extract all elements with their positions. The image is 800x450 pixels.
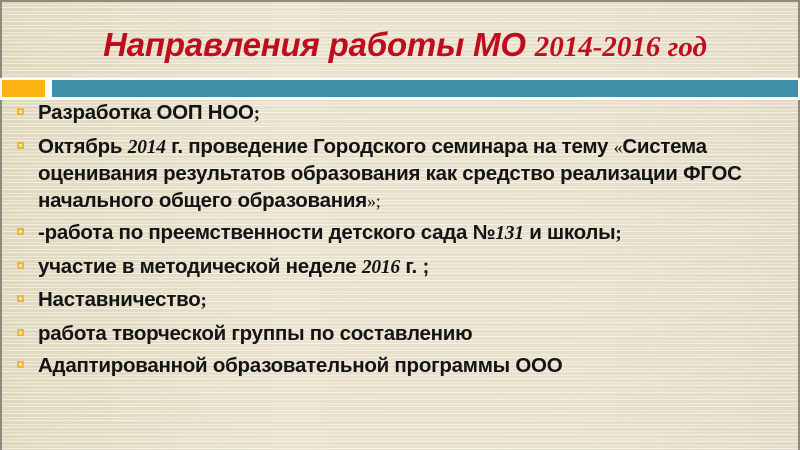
- title-main-text: Направления работы МО: [103, 26, 526, 63]
- list-item: работа творческой группы по составлению: [12, 321, 782, 348]
- list-item-text: ;: [615, 223, 621, 244]
- list-item: Наставничество;: [12, 287, 782, 315]
- list-item-text: г. проведение Городского семинара на тем…: [166, 135, 614, 158]
- list-item-text: Разработка ООП НОО: [38, 101, 254, 124]
- slide-title: Направления работы МО 2014-2016 год: [0, 14, 800, 76]
- square-bullet-icon: [17, 108, 24, 115]
- list-item-text: 2014: [128, 137, 166, 158]
- square-bullet-icon: [17, 262, 24, 269]
- list-item-text: участие в методической неделе: [38, 255, 362, 278]
- square-bullet-icon: [17, 361, 24, 368]
- square-bullet-icon: [17, 329, 24, 336]
- band-teal-bar: [52, 80, 798, 97]
- list-item-text: работа творческой группы по составлению: [38, 322, 472, 345]
- list-item: Адаптированной образовательной программы…: [12, 353, 782, 380]
- list-item-text: Адаптированной образовательной программы…: [38, 354, 562, 377]
- square-bullet-icon: [17, 142, 24, 149]
- list-item: Октябрь 2014 г. проведение Городского се…: [12, 134, 782, 215]
- list-item: Разработка ООП НОО;: [12, 100, 782, 128]
- slide-border-top: [0, 0, 800, 2]
- presentation-slide: Направления работы МО 2014-2016 год Разр…: [0, 0, 800, 450]
- list-item-text: 2016: [362, 257, 400, 278]
- list-item-text: -работа по преемственности детского сада…: [38, 221, 495, 244]
- square-bullet-icon: [17, 228, 24, 235]
- list-item-text: ;: [200, 290, 206, 311]
- list-item: -работа по преемственности детского сада…: [12, 220, 782, 248]
- list-item-text: Октябрь: [38, 135, 128, 158]
- slide-body: Разработка ООП НОО;Октябрь 2014 г. прове…: [0, 100, 800, 450]
- list-item-text: Наставничество: [38, 288, 200, 311]
- list-item: участие в методической неделе 2016 г. ;: [12, 254, 782, 282]
- list-item-text: 131: [495, 223, 524, 244]
- title-divider-band: [0, 78, 800, 100]
- title-years-text: 2014-2016 год: [535, 31, 707, 63]
- band-orange-block: [2, 80, 45, 97]
- title-text-line: Направления работы МО 2014-2016 год: [103, 28, 707, 63]
- bullet-list: Разработка ООП НОО;Октябрь 2014 г. прове…: [12, 100, 782, 380]
- list-item-text: г. ;: [400, 255, 429, 278]
- list-item-text: »;: [367, 191, 381, 211]
- list-item-text: ;: [254, 103, 260, 124]
- list-item-text: и школы: [524, 221, 616, 244]
- list-item-text: «: [614, 137, 623, 157]
- square-bullet-icon: [17, 295, 24, 302]
